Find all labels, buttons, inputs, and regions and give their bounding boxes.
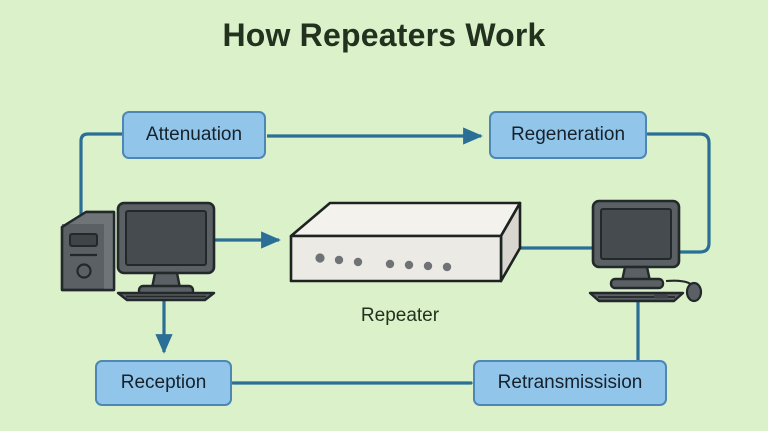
- node-retransmission[interactable]: Retransmissision: [473, 360, 667, 406]
- node-attenuation[interactable]: Attenuation: [122, 111, 266, 159]
- diagram-canvas: How Repeaters Work: [0, 0, 768, 431]
- node-reception-label: Reception: [121, 372, 207, 394]
- node-retransmission-label: Retransmissision: [498, 372, 643, 394]
- left-computer-icon: [118, 203, 214, 300]
- computer-tower-icon: [62, 212, 114, 290]
- node-regeneration[interactable]: Regeneration: [489, 111, 647, 159]
- right-computer-icon: [590, 201, 701, 301]
- node-regeneration-label: Regeneration: [511, 124, 625, 146]
- repeater-caption: Repeater: [300, 305, 500, 327]
- node-reception[interactable]: Reception: [95, 360, 232, 406]
- node-attenuation-label: Attenuation: [146, 124, 242, 146]
- page-title: How Repeaters Work: [0, 17, 768, 54]
- repeater-device-icon: [291, 203, 520, 281]
